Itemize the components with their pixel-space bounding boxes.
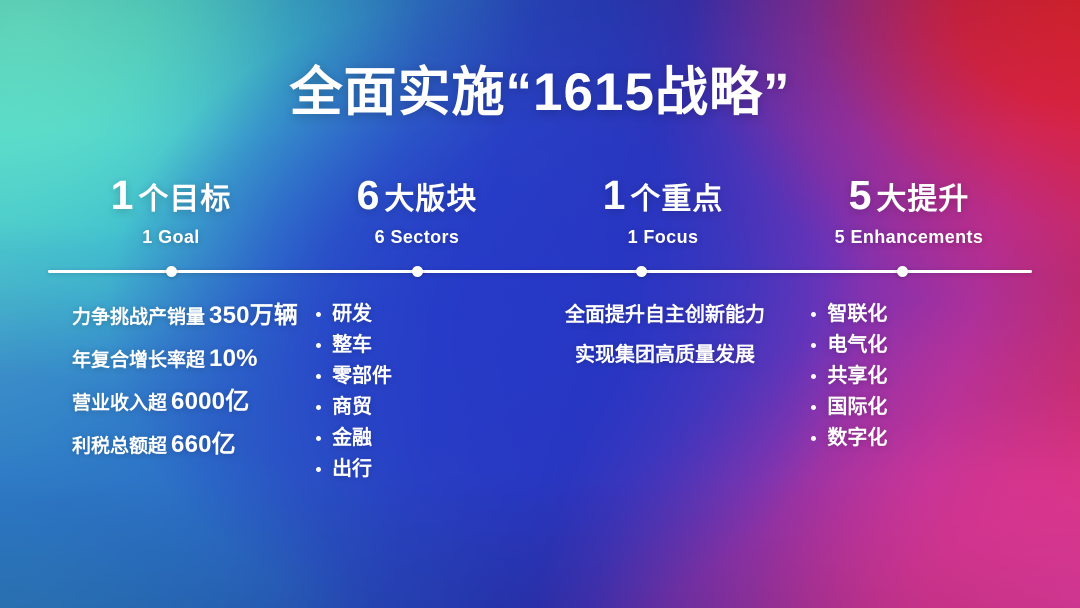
sector-label: 零部件 bbox=[332, 366, 392, 386]
column-header-sectors-label-cn: 大版块 bbox=[384, 183, 477, 216]
sector-label: 出行 bbox=[332, 459, 372, 479]
list-item: 整车 bbox=[316, 335, 543, 355]
goal-statement-value: 350万辆 bbox=[209, 302, 298, 329]
column-body-enhancements: 智联化 电气化 共享化 国际化 bbox=[787, 300, 1032, 550]
list-item: 研发 bbox=[316, 304, 543, 324]
goal-statement-item: 利税总额超660亿 bbox=[72, 433, 298, 457]
column-body-goal: 力争挑战产销量350万辆 年复合增长率超10% 营业收入超6000亿 利税总额超… bbox=[48, 300, 298, 550]
column-header-enhancements-label-en: 5 Enhancements bbox=[786, 227, 1032, 248]
strategy-slide: 全面实施“1615战略” 1个目标 1 Goal 6大版块 6 Sectors … bbox=[0, 0, 1080, 608]
column-header-focus-label-en: 1 Focus bbox=[540, 227, 786, 248]
enhancement-label: 数字化 bbox=[827, 428, 887, 448]
enhancement-list: 智联化 电气化 共享化 国际化 bbox=[787, 300, 1032, 448]
bullet-dot-icon bbox=[811, 312, 816, 317]
column-header-sectors-label-en: 6 Sectors bbox=[294, 227, 540, 248]
bullet-dot-icon bbox=[811, 436, 816, 441]
bullet-dot-icon bbox=[811, 374, 816, 379]
goal-statement-item: 营业收入超6000亿 bbox=[72, 390, 298, 414]
goal-statement-value: 6000亿 bbox=[171, 388, 249, 415]
list-item: 智联化 bbox=[811, 304, 1032, 324]
column-header-sectors: 6大版块 6 Sectors bbox=[294, 175, 540, 253]
column-header-focus-label-cn: 个重点 bbox=[630, 183, 723, 216]
focus-statement-line: 全面提升自主创新能力 bbox=[543, 305, 788, 325]
list-item: 零部件 bbox=[316, 366, 543, 386]
bullet-dot-icon bbox=[316, 374, 321, 379]
list-item: 数字化 bbox=[811, 428, 1032, 448]
bullet-dot-icon bbox=[316, 312, 321, 317]
column-body-focus: 全面提升自主创新能力 实现集团高质量发展 bbox=[543, 300, 788, 550]
bullet-dot-icon bbox=[316, 436, 321, 441]
goal-statement-text: 年复合增长率超 bbox=[72, 350, 205, 371]
enhancement-label: 智联化 bbox=[827, 304, 887, 324]
list-item: 出行 bbox=[316, 459, 543, 479]
column-header-enhancements: 5大提升 5 Enhancements bbox=[786, 175, 1032, 253]
sector-label: 整车 bbox=[332, 335, 372, 355]
column-body-sectors: 研发 整车 零部件 商贸 bbox=[298, 300, 543, 550]
column-header-goal-label-en: 1 Goal bbox=[48, 227, 294, 248]
column-header-goal-number: 1 bbox=[111, 172, 134, 218]
enhancement-label: 国际化 bbox=[827, 397, 887, 417]
list-item: 国际化 bbox=[811, 397, 1032, 417]
column-header-focus-number: 1 bbox=[603, 172, 626, 218]
column-header-enhancements-main: 5大提升 bbox=[786, 175, 1032, 216]
bullet-dot-icon bbox=[316, 343, 321, 348]
goal-statement-text: 力争挑战产销量 bbox=[72, 307, 205, 328]
goal-statement-text: 利税总额超 bbox=[72, 436, 167, 457]
column-header-goal: 1个目标 1 Goal bbox=[48, 175, 294, 253]
column-header-row: 1个目标 1 Goal 6大版块 6 Sectors 1个重点 1 Focus … bbox=[48, 175, 1032, 253]
timeline-dot-sectors bbox=[412, 266, 423, 277]
column-header-focus-main: 1个重点 bbox=[540, 175, 786, 216]
goal-statement-value: 10% bbox=[209, 345, 258, 372]
column-header-sectors-number: 6 bbox=[357, 172, 380, 218]
list-item: 商贸 bbox=[316, 397, 543, 417]
list-item: 金融 bbox=[316, 428, 543, 448]
goal-statement-list: 力争挑战产销量350万辆 年复合增长率超10% 营业收入超6000亿 利税总额超… bbox=[48, 300, 298, 457]
column-header-goal-main: 1个目标 bbox=[48, 175, 294, 216]
list-item: 共享化 bbox=[811, 366, 1032, 386]
sector-label: 金融 bbox=[332, 428, 372, 448]
timeline-rule bbox=[48, 270, 1032, 273]
sector-label: 研发 bbox=[332, 304, 372, 324]
timeline-dot-focus bbox=[636, 266, 647, 277]
column-header-goal-label-cn: 个目标 bbox=[138, 183, 231, 216]
column-header-enhancements-label-cn: 大提升 bbox=[876, 183, 969, 216]
column-header-focus: 1个重点 1 Focus bbox=[540, 175, 786, 253]
goal-statement-item: 力争挑战产销量350万辆 bbox=[72, 304, 298, 328]
slide-title: 全面实施“1615战略” bbox=[0, 62, 1080, 123]
bullet-dot-icon bbox=[316, 405, 321, 410]
focus-statement-block: 全面提升自主创新能力 实现集团高质量发展 bbox=[543, 300, 788, 365]
sector-list: 研发 整车 零部件 商贸 bbox=[298, 300, 543, 479]
goal-statement-item: 年复合增长率超10% bbox=[72, 347, 298, 371]
focus-statement-line: 实现集团高质量发展 bbox=[543, 345, 788, 365]
bullet-dot-icon bbox=[811, 343, 816, 348]
timeline-dot-enhancements bbox=[897, 266, 908, 277]
column-body-row: 力争挑战产销量350万辆 年复合增长率超10% 营业收入超6000亿 利税总额超… bbox=[48, 300, 1032, 550]
column-header-sectors-main: 6大版块 bbox=[294, 175, 540, 216]
goal-statement-text: 营业收入超 bbox=[72, 393, 167, 414]
enhancement-label: 共享化 bbox=[827, 366, 887, 386]
bullet-dot-icon bbox=[316, 467, 321, 472]
bullet-dot-icon bbox=[811, 405, 816, 410]
column-header-enhancements-number: 5 bbox=[849, 172, 872, 218]
timeline-dot-goal bbox=[166, 266, 177, 277]
timeline-divider bbox=[48, 266, 1032, 278]
enhancement-label: 电气化 bbox=[827, 335, 887, 355]
sector-label: 商贸 bbox=[332, 397, 372, 417]
goal-statement-value: 660亿 bbox=[171, 431, 236, 458]
list-item: 电气化 bbox=[811, 335, 1032, 355]
